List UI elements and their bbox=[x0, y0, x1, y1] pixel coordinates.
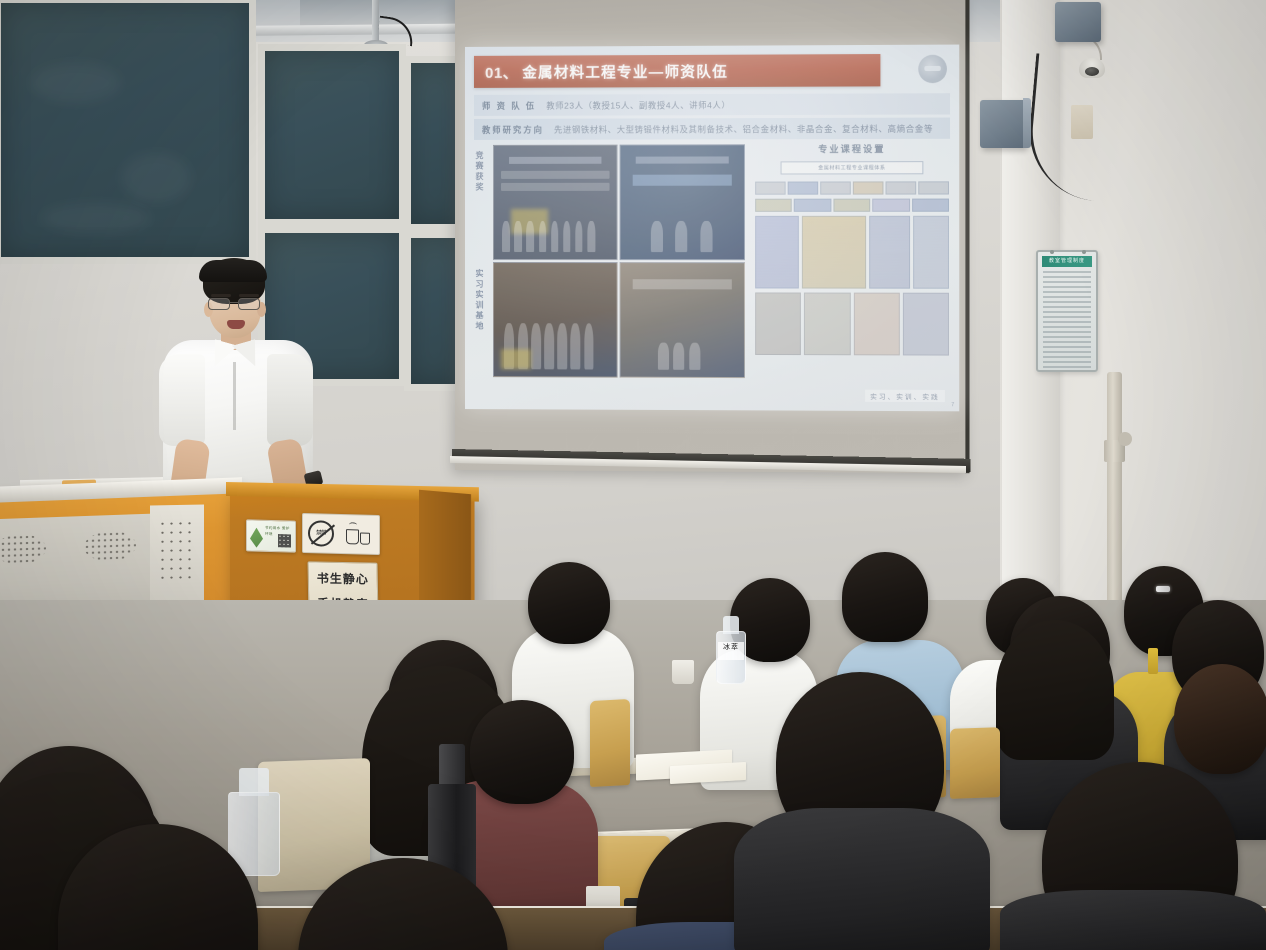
qr-code-icon bbox=[278, 534, 291, 547]
chart-column-groups bbox=[755, 216, 949, 289]
notice-board-body bbox=[1042, 271, 1092, 368]
slide-footer-note: 实习、实训、实践 bbox=[865, 390, 945, 402]
projection-screen: 01、 金属材料工程专业—师资队伍 师 资 队 伍 教师23人（教授15人、副教… bbox=[455, 0, 969, 473]
slide-info-row-research-label: 教师研究方向 bbox=[482, 123, 544, 135]
blackboard-panel-main bbox=[0, 0, 256, 264]
wooden-chair-3 bbox=[950, 727, 1000, 799]
university-logo bbox=[918, 55, 947, 83]
slide-info-row-faculty: 师 资 队 伍 教师23人（教授15人、副教授4人、讲师4人） bbox=[474, 93, 950, 116]
student-maroon-top-head bbox=[470, 700, 574, 804]
no-food-drink-sign: 禁带 bbox=[302, 513, 380, 555]
wall-pipe bbox=[1107, 372, 1122, 604]
presenter-eyebrow-right bbox=[239, 294, 259, 297]
wall-notice-board[interactable]: 教室管理制度 bbox=[1036, 250, 1098, 372]
slide-title-number: 01、 bbox=[485, 61, 518, 82]
dome-camera-icon bbox=[1079, 58, 1105, 78]
student-dark-top-hair bbox=[996, 620, 1114, 760]
student-white-shirt-center-head bbox=[528, 562, 610, 644]
instructor-desk-side-panel bbox=[150, 505, 204, 606]
blackboard-panel-upper-right bbox=[258, 44, 406, 226]
slide-info-row-research: 教师研究方向 先进钢铁材料、大型铸锻件材料及其制备技术、铝合金材料、非晶合金、复… bbox=[474, 118, 950, 140]
front-student-right-body bbox=[734, 808, 990, 950]
green-qr-card[interactable]: 节约用水 爱护环境 bbox=[246, 519, 296, 552]
hair-clip-icon bbox=[1156, 586, 1170, 592]
slide-side-label-awards: 竞赛获奖 bbox=[474, 151, 485, 193]
slide-title-text: 金属材料工程专业—师资队伍 bbox=[522, 60, 728, 82]
slide-side-label-internship: 实习实训基地 bbox=[474, 269, 485, 332]
water-bottle-labeled[interactable]: 冰萃 bbox=[716, 616, 746, 684]
slide-photo-4 bbox=[620, 262, 745, 378]
speaker-grille-left bbox=[0, 533, 46, 565]
slide-info-row-research-value: 先进钢铁材料、大型铸锻件材料及其制备技术、铝合金材料、非晶合金、复合材料、高熵合… bbox=[554, 122, 933, 135]
slide-curriculum-chart: 专业课程设置 金属材料工程专业课程体系 bbox=[755, 142, 949, 383]
presenter-shirt-placket bbox=[233, 362, 236, 430]
speaker-box-upper-right bbox=[1055, 2, 1101, 42]
projected-slide: 01、 金属材料工程专业—师资队伍 师 资 队 伍 教师23人（教授15人、副教… bbox=[465, 45, 959, 412]
presenter-glasses-icon bbox=[207, 298, 265, 311]
leaf-icon bbox=[250, 527, 263, 547]
slide-title-bar: 01、 金属材料工程专业—师资队伍 bbox=[474, 54, 880, 88]
desk-vent-holes bbox=[158, 519, 196, 582]
notice-board-header: 教室管理制度 bbox=[1042, 256, 1092, 267]
slide-info-row-faculty-label: 师 资 队 伍 bbox=[482, 99, 536, 111]
water-bottle-label-text: 冰萃 bbox=[718, 642, 743, 660]
chart-title: 专业课程设置 bbox=[755, 142, 949, 156]
handwritten-note-line1: 书生静心 bbox=[309, 562, 377, 588]
motion-sensor-icon bbox=[1071, 105, 1093, 139]
pipe-joint bbox=[1118, 432, 1132, 446]
lecture-hall-scene: 教室管理制度 01、 金属材料工程专业—师资队伍 师 资 队 伍 教师23人（教… bbox=[0, 0, 1266, 950]
prohibition-circle-icon: 禁带 bbox=[308, 520, 334, 547]
chart-tier-b bbox=[755, 199, 949, 212]
presenter-sleeve-left bbox=[159, 354, 205, 446]
wooden-chair-1 bbox=[590, 699, 630, 787]
white-cup[interactable] bbox=[672, 660, 694, 684]
student-brown-hair-head bbox=[1174, 664, 1266, 774]
slide-photo-2 bbox=[620, 144, 745, 260]
speaker-box-left bbox=[980, 100, 1026, 148]
chart-bottom-blocks bbox=[755, 292, 949, 355]
slide-photo-grid bbox=[493, 144, 745, 378]
speaker-grille-right bbox=[84, 530, 136, 562]
front-student-far-right-body bbox=[1000, 890, 1266, 950]
slide-photo-3 bbox=[493, 262, 618, 378]
presenter-sleeve-right bbox=[267, 354, 313, 446]
slide-photo-1 bbox=[493, 145, 618, 260]
yellow-lanyard bbox=[1148, 648, 1158, 674]
presenter-mouth bbox=[227, 320, 245, 329]
presenter-eyebrow-left bbox=[211, 294, 231, 297]
slide-info-row-faculty-value: 教师23人（教授15人、副教授4人、讲师4人） bbox=[546, 99, 730, 112]
student-blue-shirt-head bbox=[842, 552, 928, 642]
slide-page-number: 7 bbox=[951, 402, 954, 408]
presenter-cap bbox=[199, 260, 267, 282]
sports-water-bottle[interactable] bbox=[228, 768, 280, 876]
no-drink-icon bbox=[344, 522, 374, 547]
chart-root-box: 金属材料工程专业课程体系 bbox=[780, 161, 923, 174]
speaker-box-left-bracket bbox=[1023, 98, 1031, 148]
chart-tier-a bbox=[755, 181, 949, 194]
